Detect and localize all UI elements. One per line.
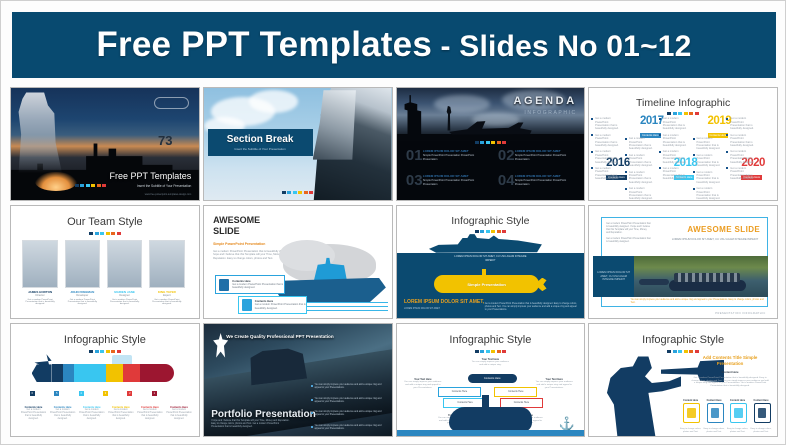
member-body: Get a modern PowerPoint Presentation tha…: [107, 299, 143, 305]
slide-thumbnail-1[interactable]: 73 Free PPT Templates Insert the Subtitl…: [10, 87, 200, 201]
timeline-bullet: Get a modern PowerPoint Presentation tha…: [693, 171, 725, 185]
accent-dot-6: [502, 350, 506, 353]
icon-label-3: Content Here: [726, 399, 749, 402]
agenda-head-4: LOREM IPSUM DOLOR SIT AMET: [515, 174, 561, 178]
timeline-text-column-1: Get a modern PowerPoint Presentation tha…: [591, 117, 623, 184]
agenda-num-1: 01: [406, 148, 423, 163]
yellow-submarine: Simple Presentation: [434, 275, 539, 293]
root-node[interactable]: Contents Here: [468, 374, 517, 383]
avatar: [149, 240, 185, 288]
slide-thumbnail-6[interactable]: AWESOMESLIDE Simple PowerPoint Presentat…: [203, 205, 393, 319]
allppt-logo: [154, 97, 190, 109]
slide10-overline: We Create Quality Professional PPT Prese…: [226, 334, 333, 340]
team-card-2[interactable]: JOHN FREEMANDeveloperGet a modern PowerP…: [65, 240, 101, 288]
icon-label-1: Content Here: [679, 399, 702, 402]
accent-dot-2: [95, 350, 99, 353]
slide8-caption: You can simply impress your audience and…: [631, 299, 766, 305]
slide1-subtitle: Insert the Subtitle of Your Presentation: [137, 184, 191, 188]
sub-legend-1: Contents HereGet a modern PowerPoint Pre…: [20, 406, 46, 421]
accent-dots-2: [204, 191, 392, 194]
accent-dot-3: [486, 350, 490, 353]
icon-body-3: Easy to change colors, photos and Text.: [726, 428, 749, 434]
rafting-photo: [631, 256, 768, 296]
caption-body: You can simply impress your audience and…: [404, 381, 442, 390]
icon-body-2: Easy to change colors, photos and Text.: [703, 428, 726, 434]
accent-dot-1: [89, 350, 93, 353]
accent-dot-2: [80, 184, 84, 187]
member-role: Director: [22, 294, 58, 297]
slide-thumbnail-7[interactable]: Infographic Style LOREM IPSUM DOLOR SIT …: [396, 205, 586, 319]
accent-dot-3: [293, 191, 297, 194]
slide6-title: AWESOMESLIDE: [213, 215, 260, 237]
avatar: [107, 240, 143, 288]
accent-dot-3: [486, 230, 490, 233]
sub-legend-3: Contents HereGet a modern PowerPoint Pre…: [79, 406, 105, 421]
timeline-bullet: Get a modern PowerPoint Presentation tha…: [591, 117, 623, 131]
accent-dot-1: [282, 191, 286, 194]
agenda-num-2: 02: [498, 148, 515, 163]
accent-dots-9: [11, 350, 199, 353]
timeline-bullet: Get a modern PowerPoint Presentation tha…: [693, 187, 725, 200]
accent-dot-6: [117, 232, 121, 235]
sub-callout-2: 2: [127, 391, 132, 396]
slide-thumbnail-12[interactable]: Infographic Style Add Contents Title Sim…: [588, 323, 778, 437]
accent-dot-1: [667, 350, 671, 353]
slide-thumbnail-11[interactable]: Infographic Style Your Text Here You can…: [396, 323, 586, 437]
accent-dot-4: [106, 350, 110, 353]
member-role: Designer: [107, 294, 143, 297]
icon-glyph: [711, 408, 719, 418]
accent-dot-2: [673, 350, 677, 353]
agenda-num-3: 03: [406, 173, 423, 188]
accent-dot-4: [491, 230, 495, 233]
slide10-bullet-2: You can simply impress your audience and…: [315, 398, 386, 404]
slide12-accent-title: Add Contents Title Simple Presentation: [691, 355, 770, 366]
member-role: Developer: [65, 294, 101, 297]
timeline-text-column-2: Get a modern PowerPoint Presentation tha…: [625, 137, 657, 200]
icon-body-1: Easy to change colors, photos and Text.: [679, 428, 702, 434]
accent-dot-4: [298, 191, 302, 194]
accent-dot-1: [475, 230, 479, 233]
timeline-bullet: Get a modern PowerPoint Presentation tha…: [693, 137, 725, 151]
timeline-bullet: Get a modern PowerPoint Presentation tha…: [591, 150, 623, 164]
slide7-body: Get a modern PowerPoint Presentation tha…: [485, 303, 579, 312]
accent-dot-3: [100, 350, 104, 353]
accent-dot-5: [304, 191, 308, 194]
timeline-bullet: Get a modern PowerPoint Presentation tha…: [659, 150, 691, 164]
avatar: [65, 240, 101, 288]
legend-body: Get a modern PowerPoint Presentation tha…: [20, 409, 46, 421]
accent-dot-5: [97, 184, 101, 187]
agenda-head-1: LOREM IPSUM DOLOR SIT AMET: [423, 149, 469, 153]
root-caption: Your Text Here You can simply impress yo…: [472, 358, 510, 367]
timeline-text-column-4: Get a modern PowerPoint Presentation tha…: [693, 137, 725, 200]
accent-dot-5: [689, 350, 693, 353]
segmented-submarine: [32, 364, 175, 382]
icon-glyph: [758, 408, 766, 418]
agenda-body-4: Simple PowerPoint Presentation PowerPoin…: [515, 179, 573, 186]
accent-dots-7: [397, 230, 585, 233]
member-body: Get a modern PowerPoint Presentation tha…: [149, 299, 185, 305]
slide12-body: Get a modern PowerPoint Presentation tha…: [691, 377, 770, 389]
header-banner: Free PPT Templates - Slides No 01~12: [12, 12, 776, 78]
accent-dot-3: [678, 112, 682, 115]
slide10-subtitle: I hope and I believe that this Template …: [211, 420, 290, 429]
sub-legend-6: Contents HereGet a modern PowerPoint Pre…: [166, 406, 192, 421]
timeline-bullet: Get a modern PowerPoint Presentation tha…: [625, 171, 657, 185]
slide1-title: Free PPT Templates: [110, 171, 192, 181]
accent-dot-3: [100, 232, 104, 235]
legend-body: Get a modern PowerPoint Presentation tha…: [108, 409, 134, 421]
sub-callout-5: 5: [54, 391, 59, 396]
accent-dot-4: [106, 232, 110, 235]
agenda-num-4: 04: [498, 173, 515, 188]
box-icon-2: [242, 299, 252, 311]
agenda-head-3: LOREM IPSUM DOLOR SIT AMET: [423, 174, 469, 178]
slide-thumbnail-9[interactable]: Infographic Style 654321 Contents HereGe…: [10, 323, 200, 437]
slide12-title: Infographic Style: [589, 334, 777, 346]
slide4-title: Timeline Infographic: [589, 97, 777, 109]
banner-title-separator: -: [432, 30, 459, 63]
icon-glyph: [687, 408, 695, 418]
legend-body: Get a modern PowerPoint Presentation tha…: [137, 409, 163, 421]
avatar: [22, 240, 58, 288]
bugler-silhouette: [595, 353, 681, 436]
raft-people: [674, 273, 740, 282]
timeline-bullet: Get a modern PowerPoint Presentation tha…: [693, 154, 725, 168]
accent-dot-2: [95, 232, 99, 235]
sub-segment-1: [140, 364, 174, 382]
accent-dots-5: [11, 232, 199, 235]
flight-deck: [397, 134, 585, 141]
slide3-title: AGENDA: [513, 95, 576, 107]
accent-dot-2: [480, 141, 484, 144]
banner-title-sub: Slides No 01~12: [459, 30, 691, 63]
sub-callout-1: 1: [152, 391, 157, 396]
accent-dot-6: [117, 350, 121, 353]
slide12-head: Content Here: [691, 371, 770, 374]
timeline-bullet: Get a modern PowerPoint Presentation tha…: [625, 137, 657, 151]
slide10-bullet-1: You can simply impress your audience and…: [315, 384, 386, 390]
caption-body: You can simply impress your audience and…: [535, 381, 573, 390]
timeline-bullet: Get a modern PowerPoint Presentation tha…: [726, 134, 758, 148]
box-icon-1: [219, 279, 229, 291]
accent-dots-3: [397, 141, 585, 144]
timeline-text-column-5: Get a modern PowerPoint Presentation tha…: [726, 117, 758, 184]
ship-caption: LOREM IPSUM DOLOR SIT AMET, CU USU AGAM …: [449, 255, 532, 262]
accent-dot-4: [91, 184, 95, 187]
accent-dot-1: [89, 232, 93, 235]
sub-segment-5: [63, 364, 74, 382]
sub-legend-2: Contents HereGet a modern PowerPoint Pre…: [49, 406, 75, 421]
slide1-footer: www.free-powerpoint-templates-design.com: [145, 193, 192, 196]
sunset-glow: [35, 172, 76, 191]
slide8-title: AWESOME SLIDE: [687, 225, 760, 234]
timeline-bullet: Get a modern PowerPoint Presentation tha…: [591, 134, 623, 148]
monitor-icon[interactable]: [730, 403, 747, 423]
accent-dots-1: [75, 184, 107, 187]
sub-legend-4: Contents HereGet a modern PowerPoint Pre…: [108, 406, 134, 421]
tree-caption-1: Your Text HereYou can simply impress you…: [404, 378, 442, 390]
legend-body: Get a modern PowerPoint Presentation tha…: [166, 409, 192, 421]
slide6-subtitle: Simple PowerPoint Presentation: [213, 242, 265, 246]
timeline-bullet: Get a modern PowerPoint Presentation tha…: [659, 117, 691, 131]
accent-dot-4: [491, 350, 495, 353]
accent-dot-6: [309, 191, 313, 194]
timeline-bullet: Get a modern PowerPoint Presentation tha…: [591, 167, 623, 181]
content-box-1[interactable]: Contents HereGet a modern PowerPoint Pre…: [215, 275, 285, 294]
slide8-subtitle: LOREM IPSUM DOLOR SIT AMET, CU USU AGAM …: [670, 238, 760, 242]
hull-number: 73: [158, 133, 172, 148]
team-card-4[interactable]: KING TAYERExpertGet a modern PowerPoint …: [149, 240, 185, 288]
accent-dot-5: [689, 112, 693, 115]
accent-dots-4: [589, 112, 777, 115]
accent-dot-5: [497, 350, 501, 353]
sailor-saluting-back: [313, 90, 358, 159]
accent-dot-4: [684, 112, 688, 115]
slide11-title: Infographic Style: [397, 334, 585, 346]
sub-legend-5: Contents HereGet a modern PowerPoint Pre…: [137, 406, 163, 421]
timeline-bullet: Get a modern PowerPoint Presentation tha…: [625, 187, 657, 200]
accent-dot-6: [102, 184, 106, 187]
accent-dot-5: [111, 350, 115, 353]
tree-caption-2: Your Text HereYou can simply impress you…: [535, 378, 573, 390]
timeline-bullet: Get a modern PowerPoint Presentation tha…: [726, 150, 758, 164]
accent-dot-3: [486, 141, 490, 144]
slide10-bullet-4: You can simply impress your audience and…: [315, 425, 386, 431]
submarine-silhouette: [449, 407, 532, 432]
timeline-text-column-3: Get a modern PowerPoint Presentation tha…: [659, 117, 691, 184]
document-icon[interactable]: [707, 403, 724, 423]
accent-dots-12: [589, 350, 777, 353]
icon-label-4: Content Here: [750, 399, 773, 402]
accent-dot-1: [475, 350, 479, 353]
accent-dot-2: [480, 230, 484, 233]
accent-dot-3: [678, 350, 682, 353]
slides-grid: 73 Free PPT Templates Insert the Subtitl…: [10, 87, 778, 437]
sub-nose: [32, 364, 52, 382]
sub-segment-3: [106, 364, 123, 382]
accent-dot-2: [673, 112, 677, 115]
agenda-body-2: Simple PowerPoint Presentation PowerPoin…: [515, 154, 573, 161]
slide-thumbnail-3[interactable]: AGENDA INFOGRAPHIC 01 LOREM IPSUM DOLOR …: [396, 87, 586, 201]
chart-icon[interactable]: [683, 403, 700, 423]
accent-dot-6: [502, 230, 506, 233]
cloud-1: [434, 95, 490, 113]
icon-body-4: Easy to change colors, photos and Text.: [750, 428, 773, 434]
slide7-lower-title: LOREM IPSUM DOLOR SIT AMET,LOREM IPSUM D…: [404, 299, 484, 312]
slide8-footer: PRESENTATION INFOGRAPHIC: [715, 312, 766, 315]
phone-icon[interactable]: [754, 403, 771, 423]
slide10-bullet-3: You can simply impress your audience and…: [315, 411, 386, 417]
tree-branch-2[interactable]: Contents Here: [494, 387, 537, 397]
accent-dot-2: [480, 350, 484, 353]
accent-dot-6: [695, 112, 699, 115]
sub-tail-fin: [34, 354, 51, 365]
box-text-2: Contents HereGet a modern PowerPoint Pre…: [255, 300, 306, 310]
sub-label: Simple Presentation: [434, 275, 539, 293]
navy-caption-box: LOREM IPSUM DOLOR SIT AMET, CU USU AGAM …: [593, 256, 634, 296]
slide9-title: Infographic Style: [11, 334, 199, 346]
icon-glyph: [734, 408, 742, 418]
sub-segment-2: [123, 364, 140, 382]
slide2-title: Section Break: [227, 134, 294, 145]
content-box-2[interactable]: Contents HereGet a modern PowerPoint Pre…: [238, 296, 308, 315]
accent-dots-11: [397, 350, 585, 353]
section-break-bar: Section Break Insert the Subtitle of You…: [208, 129, 313, 156]
slide3-subtitle: INFOGRAPHIC: [524, 110, 576, 116]
member-body: Get a modern PowerPoint Presentation tha…: [65, 299, 101, 305]
slide-thumbnail-5[interactable]: Our Team Style JAMES HORTONDirectorGet a…: [10, 205, 200, 319]
ppt-template-preview-page: Free PPT Templates - Slides No 01~12 73 …: [0, 0, 786, 445]
tree-branch-1[interactable]: Contents Here: [438, 387, 481, 397]
accent-dot-3: [86, 184, 90, 187]
accent-dot-6: [695, 350, 699, 353]
member-role: Expert: [149, 294, 185, 297]
sub-callout-4: 4: [79, 391, 84, 396]
timeline-bullet: Get a modern PowerPoint Presentation tha…: [726, 167, 758, 181]
member-body: Get a modern PowerPoint Presentation tha…: [22, 299, 58, 305]
accent-dot-5: [497, 141, 501, 144]
icon-label-2: Content Here: [703, 399, 726, 402]
sub-sail: [482, 395, 489, 407]
banner-title-main: Free PPT Templates: [96, 25, 432, 64]
sub-callout-6: 6: [30, 391, 35, 396]
timeline-bullet: Get a modern PowerPoint Presentation tha…: [726, 117, 758, 131]
slide2-subtitle: Insert the Subtitle of Your Presentation: [234, 147, 285, 151]
slide8-left-text: Get a modern PowerPoint Presentation tha…: [606, 223, 651, 245]
accent-dot-1: [75, 184, 79, 187]
timeline-bullet: Get a modern PowerPoint Presentation tha…: [659, 134, 691, 148]
slide7-title: Infographic Style: [397, 215, 585, 227]
bottom-strip: [397, 430, 585, 436]
sub-segment-4: [74, 364, 105, 382]
sub-callout-3: 3: [103, 391, 108, 396]
slide-thumbnail-2[interactable]: Section Break Insert the Subtitle of You…: [203, 87, 393, 201]
accent-dot-4: [684, 350, 688, 353]
sailor-figure: [15, 92, 79, 173]
agenda-body-3: Simple PowerPoint Presentation PowerPoin…: [423, 179, 481, 186]
legend-body: Get a modern PowerPoint Presentation tha…: [79, 409, 105, 421]
slide-thumbnail-8[interactable]: Get a modern PowerPoint Presentation tha…: [588, 205, 778, 319]
agenda-body-1: Simple PowerPoint Presentation PowerPoin…: [423, 154, 481, 161]
agenda-head-2: LOREM IPSUM DOLOR SIT AMET: [515, 149, 561, 153]
accent-dot-2: [287, 191, 291, 194]
cloud-2: [249, 90, 298, 112]
banner-title: Free PPT Templates - Slides No 01~12: [96, 25, 691, 65]
accent-dot-4: [491, 141, 495, 144]
legend-body: Get a modern PowerPoint Presentation tha…: [49, 409, 75, 421]
slide-thumbnail-4[interactable]: Timeline Infographic 2016Contents Here20…: [588, 87, 778, 201]
anchor-icon: ⚓: [559, 417, 575, 430]
timeline-bullet: Get a modern PowerPoint Presentation tha…: [659, 167, 691, 181]
slide-thumbnail-10[interactable]: We Create Quality Professional PPT Prese…: [203, 323, 393, 437]
box-text-1: Contents HereGet a modern PowerPoint Pre…: [232, 280, 283, 290]
accent-dot-1: [667, 112, 671, 115]
accent-dot-5: [497, 230, 501, 233]
raft-background: [639, 279, 669, 285]
slide10-title: Portfolio Presentation: [211, 409, 315, 420]
sub-segment-6: [52, 364, 63, 382]
timeline-bullet: Get a modern PowerPoint Presentation tha…: [625, 154, 657, 168]
accent-dot-5: [111, 232, 115, 235]
submarine-conning-tower: [243, 340, 311, 386]
slide5-title: Our Team Style: [11, 216, 199, 228]
team-card-1[interactable]: JAMES HORTONDirectorGet a modern PowerPo…: [22, 240, 58, 288]
accent-dot-6: [502, 141, 506, 144]
team-card-3[interactable]: MARIEN JANEDesignerGet a modern PowerPoi…: [107, 240, 143, 288]
accent-dot-1: [475, 141, 479, 144]
destroyer-silhouette: [427, 231, 547, 256]
